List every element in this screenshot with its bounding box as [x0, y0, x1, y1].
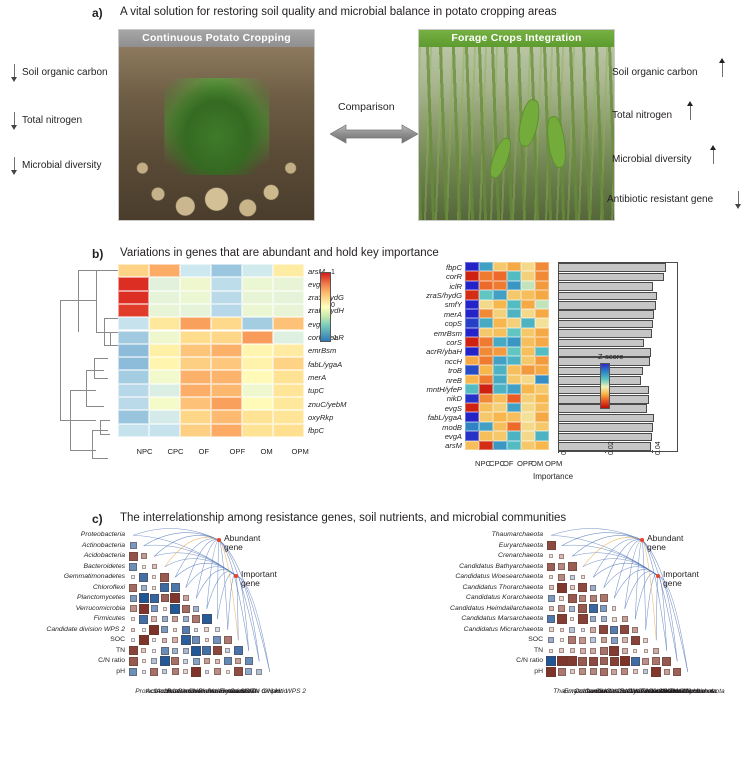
correlation-cell	[152, 586, 156, 590]
important-gene-annotation: Important gene	[663, 570, 699, 588]
correlation-cell	[152, 575, 156, 579]
importance-bar	[558, 263, 666, 272]
correlation-cell	[191, 646, 201, 656]
correlation-cell	[256, 669, 262, 675]
correlation-cell	[622, 616, 628, 622]
heatmap1-dendrogram-segment	[60, 300, 61, 420]
heatmap2-cell	[479, 337, 493, 346]
heatmap1-column-label: NPC	[137, 441, 153, 459]
heatmap2-cell	[479, 365, 493, 374]
heatmap1-dendrogram-segment	[94, 358, 95, 378]
correlation-cell	[581, 628, 585, 632]
correlation-cell	[568, 636, 576, 644]
heatmap2-cell	[479, 375, 493, 384]
correlation-cell	[560, 638, 564, 642]
correlation-cell	[590, 668, 597, 675]
correlation-cell	[172, 616, 178, 622]
heatmap1-row-label: znuC/yebM	[308, 400, 346, 409]
comparison-arrow-icon	[330, 124, 418, 144]
correlation-row-label: Firmicutes	[0, 615, 125, 622]
heatmap1-cell	[211, 317, 242, 330]
heatmap1-cell	[211, 424, 242, 437]
correlation-cell	[173, 628, 177, 632]
importance-axis-tick-mark	[558, 450, 559, 453]
importance-axis-tick-label: 0	[561, 451, 568, 455]
heatmap1-dendrogram-segment	[100, 420, 101, 434]
heatmap2-row-label: emrBsm	[434, 329, 462, 338]
heatmap2-cell	[493, 271, 507, 280]
correlation-row-label: pH	[0, 668, 125, 675]
heatmap2-cell	[465, 328, 479, 337]
heatmap2-row-label: modB	[442, 423, 462, 432]
heatmap2-cell	[493, 328, 507, 337]
importance-bar	[558, 273, 664, 282]
heatmap2-cell	[507, 300, 521, 309]
heatmap2-cell	[507, 318, 521, 327]
correlation-cell	[151, 616, 157, 622]
heatmap2-cell	[535, 337, 549, 346]
correlation-cell	[633, 649, 637, 653]
correlation-cell	[172, 637, 178, 643]
heatmap1-cell	[211, 397, 242, 410]
correlation-cell	[161, 626, 168, 633]
heatmap1-cell	[149, 277, 180, 290]
heatmap2-cell	[535, 365, 549, 374]
importance-axis-title: Importance	[533, 472, 573, 481]
correlation-cell	[620, 625, 629, 634]
correlation-cell	[142, 565, 146, 569]
heatmap2-cell	[535, 422, 549, 431]
correlation-cell	[183, 595, 189, 601]
heatmap2-row-label: zraS/hydG	[426, 291, 462, 300]
correlation-cell	[171, 657, 179, 665]
heatmap1-dendrogram-segment	[70, 390, 71, 450]
correlation-cell	[129, 668, 137, 676]
left-indicator-arrow-down-0	[14, 64, 15, 77]
heatmap2-cell	[493, 365, 507, 374]
heatmap1-colorbar	[320, 272, 331, 342]
correlation-row-label: Candidatus Korarchaeota	[370, 594, 543, 601]
heatmap2-cell	[465, 403, 479, 412]
heatmap1-column-label: OPF	[230, 441, 246, 459]
heatmap1-row-label: oxyRkp	[308, 413, 333, 422]
heatmap2-row-label: merA	[444, 310, 462, 319]
correlation-row-label: Euryarchaeota	[370, 542, 543, 549]
heatmap1-cell	[273, 384, 304, 397]
heatmap2-cell	[507, 384, 521, 393]
heatmap1-dendrogram-segment	[70, 390, 96, 391]
correlation-cell	[131, 575, 135, 579]
correlation-cell	[546, 656, 556, 666]
heatmap2-cell	[507, 356, 521, 365]
heatmap2-cell	[493, 441, 507, 450]
heatmap2-cell	[507, 431, 521, 440]
heatmap2-cell	[535, 384, 549, 393]
correlation-cell	[202, 614, 212, 624]
heatmap1-cell	[273, 331, 304, 344]
heatmap2-cell	[465, 300, 479, 309]
heatmap1-cell	[242, 304, 273, 317]
heatmap1-cell	[118, 424, 149, 437]
heatmap1-cell	[180, 424, 211, 437]
correlation-cell	[632, 627, 638, 633]
heatmap1-cell	[242, 370, 273, 383]
correlation-cell	[631, 657, 640, 666]
correlation-cell	[662, 657, 671, 666]
heatmap1-cell	[180, 370, 211, 383]
heatmap2-cell	[521, 309, 535, 318]
correlation-cell	[235, 658, 241, 664]
heatmap2-row-label: acrR/ybaH	[426, 347, 462, 356]
correlation-cell	[183, 669, 188, 674]
right-indicator-label-3: Antibiotic resistant gene	[607, 194, 713, 205]
correlation-cell	[141, 648, 146, 653]
heatmap1-legend-tick-min: -1	[331, 335, 337, 342]
heatmap2-cell	[479, 403, 493, 412]
heatmap2-cell	[493, 375, 507, 384]
heatmap2-cell	[521, 337, 535, 346]
correlation-cell	[600, 594, 608, 602]
importance-bar	[558, 301, 656, 310]
correlation-cell	[612, 617, 617, 622]
heatmap1-dendrogram-segment	[92, 430, 93, 458]
heatmap2-cell	[521, 431, 535, 440]
heatmap1-cell	[211, 264, 242, 277]
heatmap2-cell	[465, 394, 479, 403]
correlation-cell	[162, 616, 168, 622]
heatmap1-dendrogram-segment	[110, 332, 111, 345]
heatmap1-cell	[149, 410, 180, 423]
heatmap2-row-label: arsM	[445, 441, 462, 450]
heatmap2-row-label: corS	[446, 338, 462, 347]
correlation-cell	[142, 659, 146, 663]
heatmap2-cell	[479, 347, 493, 356]
importance-bar	[558, 292, 657, 301]
heatmap1-dendrogram-segment	[60, 300, 96, 301]
correlation-cell	[622, 648, 628, 654]
heatmap2-row-label: nccH	[445, 357, 462, 366]
correlation-cell	[182, 626, 190, 634]
correlation-cell	[590, 616, 596, 622]
correlation-row-label: Thaumarchaeota	[370, 531, 543, 538]
potato-field-image	[119, 47, 314, 220]
heatmap1-cell	[273, 410, 304, 423]
heatmap1-cell	[242, 317, 273, 330]
correlation-cell	[558, 605, 565, 612]
correlation-cell	[560, 628, 564, 632]
heatmap2-row-label: troB	[448, 366, 462, 375]
heatmap1-row-label: tupC	[308, 386, 324, 395]
heatmap1-row-label: emrBsm	[308, 346, 336, 355]
correlation-cell	[590, 637, 596, 643]
heatmap2-cell	[479, 384, 493, 393]
heatmap1-cell	[118, 331, 149, 344]
importance-bar	[558, 282, 653, 291]
correlation-cell	[139, 604, 149, 614]
correlation-cell	[161, 647, 169, 655]
correlation-cell	[162, 638, 167, 643]
heatmap1-cell	[180, 344, 211, 357]
correlation-cell	[160, 573, 169, 582]
correlation-cell	[181, 635, 191, 645]
correlation-cell	[183, 659, 188, 664]
heatmap2-cell	[535, 375, 549, 384]
heatmap1-cell	[273, 277, 304, 290]
heatmap2-cell	[521, 347, 535, 356]
heatmap2-cell	[507, 262, 521, 271]
correlation-row-label: Planctomycetes	[0, 594, 125, 601]
correlation-cell	[149, 625, 159, 635]
heatmap1-dendrogram-segment	[86, 370, 87, 406]
correlation-cell	[202, 646, 211, 655]
heatmap2-cell	[479, 281, 493, 290]
correlation-cell	[610, 657, 619, 666]
heatmap1-cell	[180, 277, 211, 290]
correlation-cell	[129, 584, 137, 592]
heatmap2-cell	[479, 412, 493, 421]
heatmap1-cell	[149, 304, 180, 317]
heatmap1-cell	[118, 410, 149, 423]
correlation-cell	[570, 585, 575, 590]
correlation-cell	[139, 593, 149, 603]
heatmap2-cell	[521, 328, 535, 337]
heatmap2-cell	[479, 318, 493, 327]
correlation-cell	[611, 669, 617, 675]
heatmap2-cell	[465, 281, 479, 290]
heatmap1-cell	[118, 344, 149, 357]
heatmap1-cell	[273, 357, 304, 370]
importance-bar	[558, 414, 654, 423]
correlation-cell	[129, 552, 138, 561]
correlation-column-label: pH	[272, 680, 280, 698]
heatmap2-cell	[507, 337, 521, 346]
heatmap1-cell	[211, 410, 242, 423]
heatmap1-cell	[180, 291, 211, 304]
heatmap1-cell	[242, 277, 273, 290]
abundant-gene-annotation: Abundant gene	[224, 534, 260, 552]
correlation-cell	[579, 668, 586, 675]
heatmap2-cell	[479, 262, 493, 271]
heatmap1-cell	[273, 370, 304, 383]
correlation-cell	[129, 646, 138, 655]
correlation-cell	[225, 648, 230, 653]
heatmap2-cell	[521, 384, 535, 393]
correlation-cell	[569, 627, 575, 633]
correlation-cell	[129, 657, 138, 666]
heatmap2-cell	[493, 262, 507, 271]
heatmap2-cell	[465, 347, 479, 356]
heatmap2-cell	[507, 394, 521, 403]
heatmap2-row-label: evgA	[445, 432, 462, 441]
heatmap2-cell	[479, 328, 493, 337]
heatmap2-cell	[493, 422, 507, 431]
correlation-row-label: Gemmatimonadetes	[0, 573, 125, 580]
heatmap1-cell	[180, 357, 211, 370]
heatmap1-cell	[149, 264, 180, 277]
heatmap2-cell	[507, 365, 521, 374]
correlation-cell	[570, 648, 575, 653]
heatmap1-dendrogram-segment	[110, 332, 118, 333]
correlation-cell	[150, 668, 158, 676]
heatmap2-cell	[535, 356, 549, 365]
left-indicator-label-0: Soil organic carbon	[22, 67, 108, 78]
correlation-cell	[558, 563, 565, 570]
heatmap2-cell	[507, 281, 521, 290]
importance-axis-tick-mark	[652, 450, 653, 453]
heatmap2-colorbar	[600, 363, 610, 409]
heatmap1-dendrogram-segment	[94, 378, 108, 379]
correlation-row-label: Acidobacteria	[0, 552, 125, 559]
heatmap1-cell	[149, 424, 180, 437]
heatmap1-column-label: OF	[199, 441, 210, 459]
heatmap1-row-label: fabL/ygaA	[308, 360, 342, 369]
heatmap1-dendrogram-segment	[100, 434, 110, 435]
heatmap1-cell	[149, 317, 180, 330]
heatmap2-cell	[479, 300, 493, 309]
correlation-row-label: Proteobacteria	[0, 531, 125, 538]
correlation-cell	[549, 554, 553, 558]
heatmap2-cell	[465, 431, 479, 440]
correlation-cell	[130, 542, 137, 549]
heatmap2-column-label: OM	[531, 453, 543, 471]
correlation-row-label: pH	[370, 668, 543, 675]
correlation-cell	[151, 658, 157, 664]
correlation-cell	[590, 595, 597, 602]
heatmap2-cell	[493, 309, 507, 318]
heatmap1-cell	[211, 291, 242, 304]
correlation-cell	[224, 657, 232, 665]
heatmap1-dendrogram-segment	[60, 420, 96, 421]
heatmap1-legend-tick-mid: 0	[331, 302, 335, 309]
correlation-cell	[549, 649, 553, 653]
heatmap2-cell	[465, 356, 479, 365]
correlation-cell	[131, 638, 135, 642]
correlation-cell	[191, 667, 201, 677]
correlation-cell	[557, 614, 567, 624]
heatmap2-cell	[521, 422, 535, 431]
heatmap1-dendrogram-segment	[78, 270, 79, 332]
correlation-cell	[141, 553, 147, 559]
correlation-cell	[204, 658, 210, 664]
correlation-cell	[213, 636, 221, 644]
heatmap1-cell	[273, 344, 304, 357]
correlation-row-label: C/N ratio	[0, 657, 125, 664]
correlation-cell	[139, 635, 149, 645]
correlation-row-label: Candidatus Thorarchaeota	[370, 584, 543, 591]
heatmap2-row-label: fabL/ygaA	[428, 413, 462, 422]
heatmap2-cell	[507, 271, 521, 280]
correlation-cell	[651, 667, 661, 677]
correlation-cell	[183, 616, 189, 622]
correlation-cell	[549, 585, 554, 590]
correlation-cell	[204, 627, 209, 632]
heatmap2-cell	[493, 403, 507, 412]
heatmap2-cell	[521, 394, 535, 403]
correlation-cell	[570, 617, 574, 621]
left-indicator-arrow-down-1	[14, 112, 15, 125]
correlation-cell	[558, 574, 565, 581]
heatmap1-dendrogram-segment	[96, 270, 118, 271]
heatmap2-cell	[521, 271, 535, 280]
heatmap2-row-label: corR	[446, 272, 462, 281]
heatmap2-cell	[535, 394, 549, 403]
heatmap1-cell	[180, 397, 211, 410]
heatmap1-cell	[118, 264, 149, 277]
heatmap2-cell	[535, 431, 549, 440]
heatmap2-row-label: copS	[445, 319, 462, 328]
heatmap2-cell	[465, 309, 479, 318]
heatmap2-cell	[493, 356, 507, 365]
heatmap2-cell	[521, 412, 535, 421]
heatmap2-column-label: OPM	[545, 453, 562, 471]
heatmap2-cell	[465, 318, 479, 327]
heatmap2-cell	[479, 271, 493, 280]
correlation-cell	[205, 638, 209, 642]
heatmap2-cell	[493, 318, 507, 327]
heatmap2-cell	[479, 309, 493, 318]
correlation-row-label: Chloroflexi	[0, 584, 125, 591]
continuous-potato-cropping-header: Continuous Potato Cropping	[119, 30, 314, 47]
correlation-cell	[652, 657, 660, 665]
correlation-cell	[581, 575, 585, 579]
correlation-cell	[131, 628, 135, 632]
correlation-cell	[160, 583, 169, 592]
correlation-cell	[611, 637, 618, 644]
heatmap2-cell	[493, 337, 507, 346]
correlation-cell	[601, 637, 607, 643]
heatmap2-cell	[535, 403, 549, 412]
heatmap1-column-label: CPC	[168, 441, 184, 459]
correlation-cell	[245, 668, 252, 675]
heatmap1-cell	[180, 331, 211, 344]
correlation-cell	[193, 606, 199, 612]
correlation-cell	[161, 594, 169, 602]
correlation-cell	[631, 636, 640, 645]
correlation-cell	[643, 638, 648, 643]
heatmap2-cell	[521, 281, 535, 290]
correlation-row-label: TN	[370, 647, 543, 654]
comparison-label: Comparison	[338, 101, 395, 113]
heatmap1-cell	[118, 277, 149, 290]
correlation-cell	[600, 657, 608, 665]
correlation-cell	[601, 616, 607, 622]
forage-crops-image	[419, 47, 614, 220]
heatmap1-dendrogram-segment	[110, 345, 118, 346]
correlation-cell	[215, 659, 220, 664]
importance-bar	[558, 320, 653, 329]
heatmap2-cell	[465, 384, 479, 393]
correlation-cell	[139, 573, 148, 582]
correlation-row-label: C/N ratio	[370, 657, 543, 664]
correlation-cell	[193, 658, 200, 665]
panel-b: b) Variations in genes that are abundant…	[0, 240, 750, 510]
heatmap1-cell	[242, 291, 273, 304]
heatmap1-legend-tick-max: 1	[331, 269, 335, 276]
heatmap2-cell	[535, 318, 549, 327]
heatmap2-cell	[521, 300, 535, 309]
correlation-row-label: Crenarchaeota	[370, 552, 543, 559]
heatmap1-cell	[211, 384, 242, 397]
heatmap2-cell	[535, 300, 549, 309]
important-genes-heatmap: fbpCcorRiclRzraS/hydGsmfYmerAcopSemrBsmc…	[395, 240, 750, 490]
panel-c: c) The interrelationship among resistanc…	[0, 510, 750, 757]
left-indicator-arrow-down-2	[14, 157, 15, 170]
heatmap2-cell	[507, 422, 521, 431]
correlation-cell	[612, 606, 617, 611]
heatmap1-cell	[273, 291, 304, 304]
heatmap2-cell	[493, 300, 507, 309]
heatmap1-cell	[211, 357, 242, 370]
